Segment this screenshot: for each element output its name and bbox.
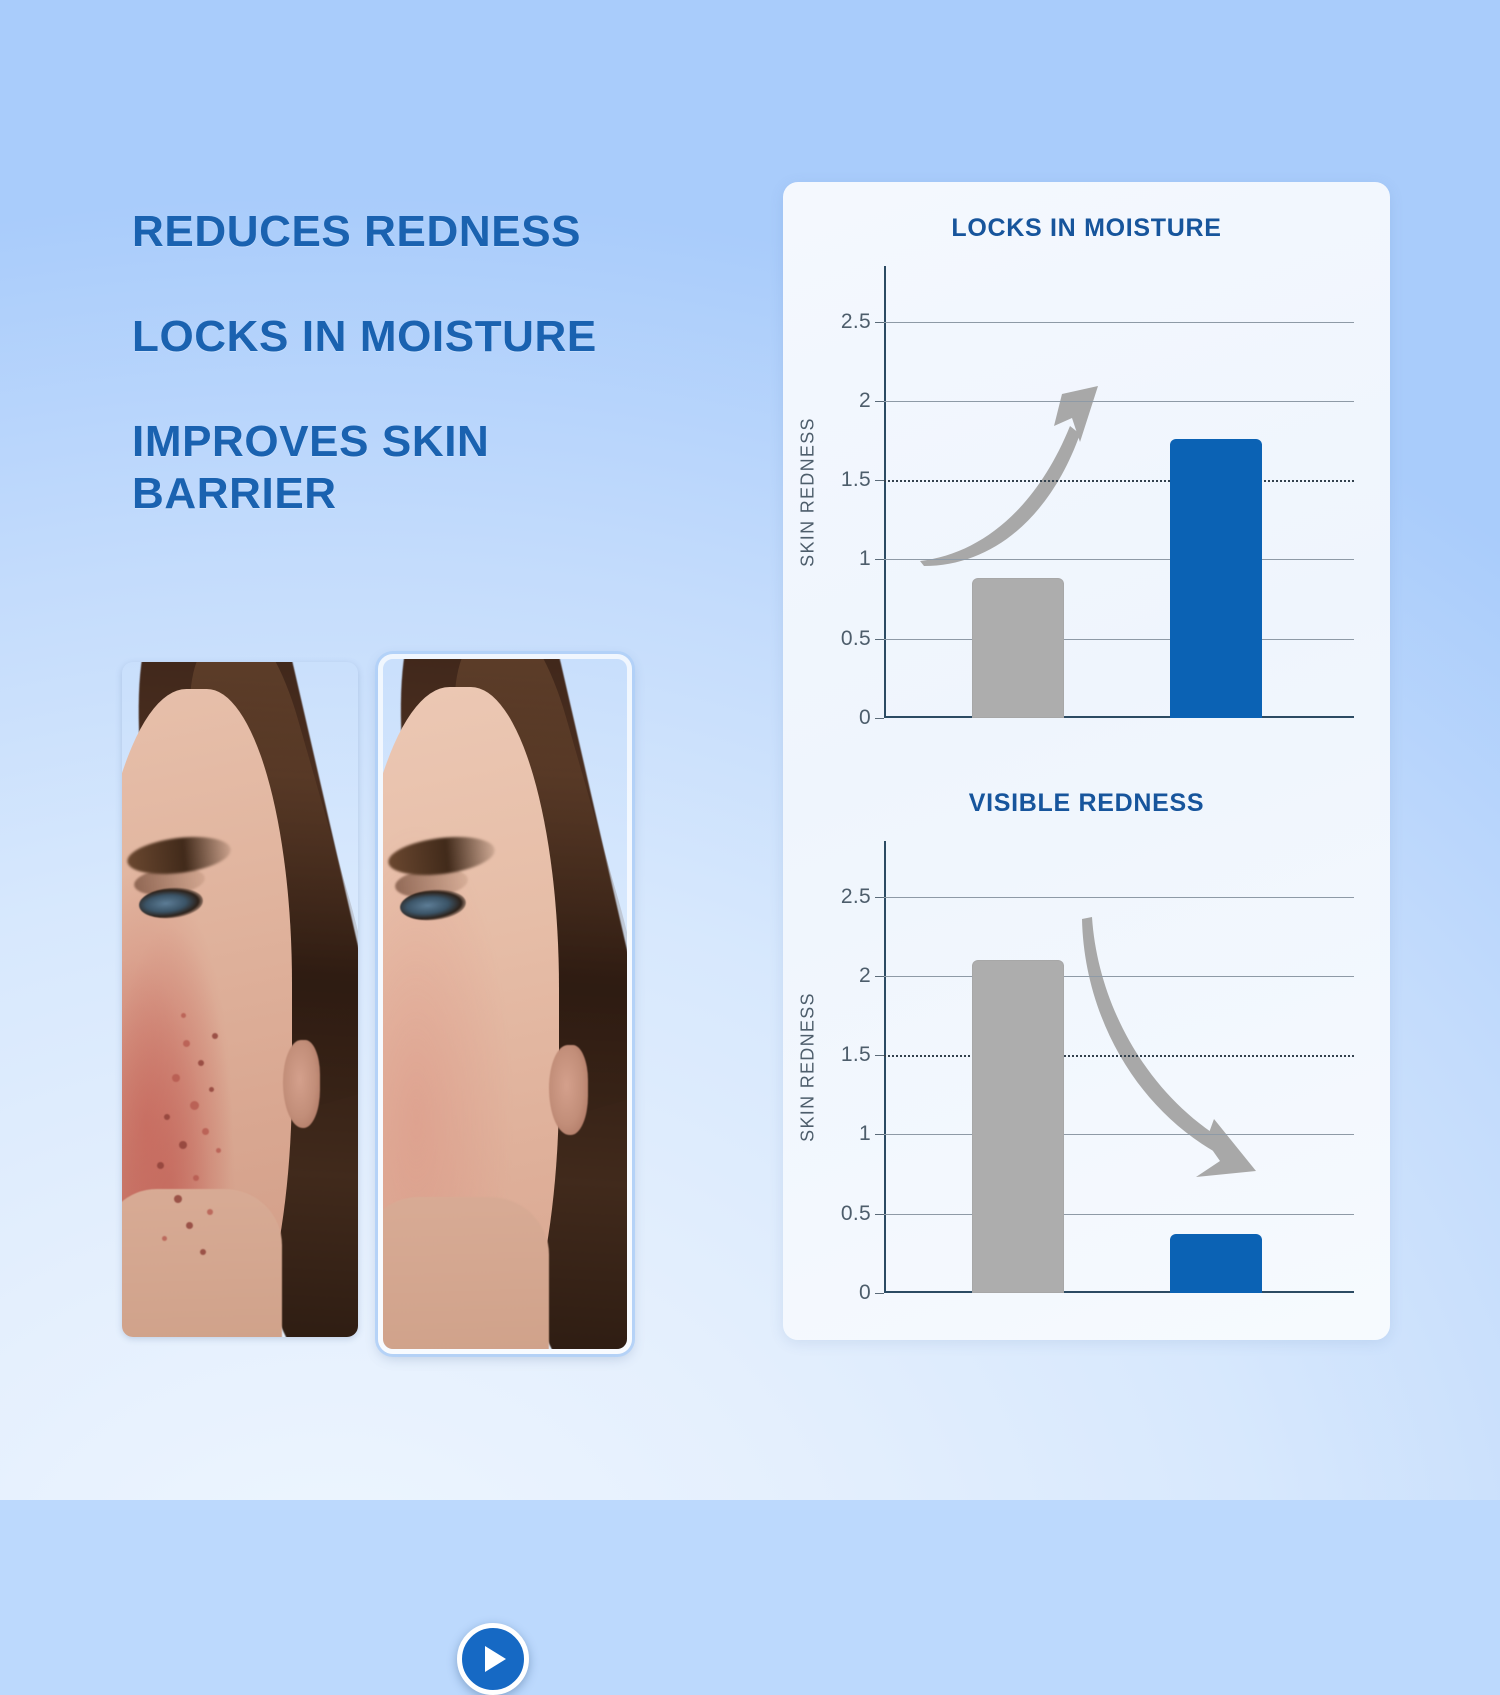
y-axis-tick-label: 0.5: [841, 627, 871, 651]
y-axis-tick-label: 1.5: [841, 468, 871, 492]
y-axis-tick-label: 0: [859, 1281, 871, 1305]
gridline: [884, 322, 1354, 323]
y-axis: [884, 841, 886, 1293]
y-axis-tick: [875, 559, 884, 560]
y-axis-tick-label: 1: [859, 547, 871, 571]
gridline: [884, 401, 1354, 402]
y-axis-label: SKIN REDNESS: [798, 417, 819, 567]
gridline: [884, 976, 1354, 977]
y-axis-tick: [875, 639, 884, 640]
gridline: [884, 1055, 1354, 1057]
acne-spots: [122, 662, 358, 1337]
gridline: [884, 559, 1354, 560]
play-icon[interactable]: [457, 1623, 529, 1695]
benefit-headline-2: LOCKS IN MOISTURE: [132, 311, 692, 364]
gridline: [884, 1214, 1354, 1215]
y-axis-tick: [875, 718, 884, 719]
y-axis-tick: [875, 976, 884, 977]
benefit-headline-3: IMPROVES SKIN BARRIER: [132, 416, 692, 522]
before-face-image: [122, 662, 358, 1337]
y-axis-tick-label: 2: [859, 389, 871, 413]
y-axis-tick: [875, 401, 884, 402]
gridline: [884, 639, 1354, 640]
after-photo[interactable]: [378, 654, 632, 1354]
infographic-canvas: REDUCES REDNESS LOCKS IN MOISTURE IMPROV…: [0, 0, 1500, 1500]
benefits-list: REDUCES REDNESS LOCKS IN MOISTURE IMPROV…: [132, 206, 692, 521]
y-axis-tick: [875, 322, 884, 323]
y-axis-tick: [875, 1134, 884, 1135]
chart-visible-redness: VISIBLE REDNESS SKIN REDNESS 00.511.522.…: [783, 757, 1390, 1340]
play-triangle: [485, 1646, 506, 1672]
chart-title: LOCKS IN MOISTURE: [783, 214, 1390, 243]
bar-after: [1170, 439, 1262, 718]
y-axis-tick-label: 2.5: [841, 310, 871, 334]
ear: [549, 1045, 588, 1135]
bar-before: [972, 578, 1064, 718]
y-axis-tick-label: 0.5: [841, 1202, 871, 1226]
y-axis-tick: [875, 1214, 884, 1215]
y-axis-tick-label: 1.5: [841, 1043, 871, 1067]
y-axis-tick: [875, 480, 884, 481]
charts-card: LOCKS IN MOISTURE SKIN REDNESS 00.511.52…: [783, 182, 1390, 1340]
bar-before: [972, 960, 1064, 1293]
before-photo[interactable]: [122, 662, 358, 1337]
benefit-headline-1: REDUCES REDNESS: [132, 206, 692, 259]
y-axis: [884, 266, 886, 718]
gridline: [884, 897, 1354, 898]
chart-title: VISIBLE REDNESS: [783, 789, 1390, 818]
y-axis-tick-label: 1: [859, 1122, 871, 1146]
y-axis-label: SKIN REDNESS: [798, 992, 819, 1142]
gridline: [884, 1134, 1354, 1135]
bar-after: [1170, 1234, 1262, 1293]
y-axis-tick: [875, 1293, 884, 1294]
y-axis-tick-label: 2.5: [841, 885, 871, 909]
y-axis-tick-label: 2: [859, 964, 871, 988]
x-axis: [884, 1291, 1354, 1293]
after-face-image: [383, 659, 627, 1349]
x-axis: [884, 716, 1354, 718]
y-axis-tick: [875, 897, 884, 898]
plot-area: SKIN REDNESS 00.511.522.5: [884, 266, 1354, 718]
plot-area: SKIN REDNESS 00.511.522.5: [884, 841, 1354, 1293]
chart-locks-in-moisture: LOCKS IN MOISTURE SKIN REDNESS 00.511.52…: [783, 182, 1390, 757]
gridline: [884, 480, 1354, 482]
trend-arrow-up-icon: [884, 266, 1354, 718]
y-axis-tick: [875, 1055, 884, 1056]
y-axis-tick-label: 0: [859, 706, 871, 730]
neck-region: [378, 1197, 549, 1354]
trend-arrow-down-icon: [884, 841, 1354, 1293]
